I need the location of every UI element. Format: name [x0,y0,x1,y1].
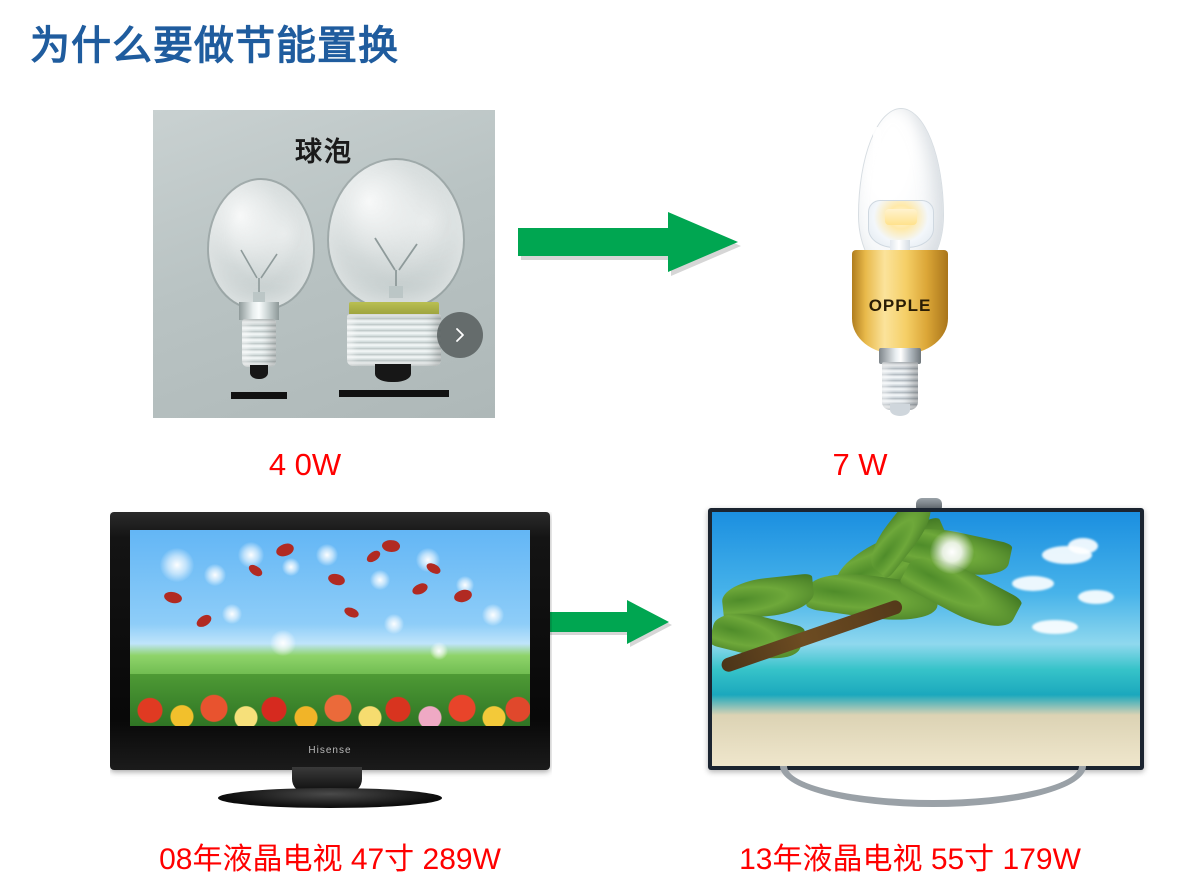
screen-sparkle [482,604,504,626]
new-lcd-tv-photo [700,498,1152,810]
screen-cloud [1012,576,1054,591]
bulb-contact-tip-large [375,364,411,382]
led-screw-base [882,362,918,410]
bulb-screw-base-small [242,319,276,367]
opple-brand-label: OPPLE [852,296,948,316]
old-lcd-tv-photo: Hisense [110,512,552,812]
screen-petal [411,582,429,596]
screen-petal [343,605,360,620]
bulb-filament-small [231,248,287,310]
scale-bar-large [339,390,449,397]
screen-petal [453,589,472,603]
new-tv-stand [780,766,1086,807]
screen-sparkle [222,604,242,624]
screen-cloud [1078,590,1114,604]
led-contact-tip [890,404,910,416]
hisense-brand-label: Hisense [110,745,550,756]
led-gold-housing: OPPLE [852,250,948,354]
screen-sparkle [370,570,390,590]
screen-sparkle [270,630,296,656]
old-tv-stand-base [218,788,442,808]
old-tv-flower-field [130,674,530,726]
screen-sparkle [384,614,404,634]
old-bulb-wattage-label: 4 0W [205,447,405,483]
screen-petal [163,589,184,605]
new-tv-spec-label: 13年液晶电视 55寸 179W [640,834,1180,878]
led-candle-bulb-photo: OPPLE [820,104,980,420]
screen-cloud [1032,620,1078,634]
screen-petal [275,542,295,557]
old-tv-spec-label: 08年液晶电视 47寸 289W [80,834,580,878]
sun-flare [930,530,974,574]
old-tv-bezel: Hisense [110,512,550,770]
bulb-filament-large [363,236,429,306]
right-arrow-icon-tvs [535,600,675,656]
page-title: 为什么要做节能置换 [30,22,399,70]
bulb-screw-base-large [347,314,441,366]
incandescent-bulb-photo: 球泡 [153,110,495,418]
chevron-right-icon [451,326,469,344]
old-tv-screen [130,530,530,726]
bulb-contact-tip-small [250,365,268,379]
new-tv-screen [712,512,1140,766]
bulb-neck-small [239,302,279,320]
screen-sparkle [282,558,300,576]
screen-cloud [1068,538,1098,554]
scale-bar-small [231,392,287,399]
incandescent-bulb-small [201,160,317,400]
new-tv-bezel [708,508,1144,770]
screen-petal [195,613,214,629]
screen-petal [365,549,382,564]
screen-sparkle [430,642,448,660]
new-bulb-wattage-label: 7 W [760,447,960,483]
screen-petal [327,571,347,588]
photo-next-button[interactable] [437,312,483,358]
screen-sparkle [204,564,226,586]
screen-petal [247,562,264,579]
right-arrow-icon-bulbs [518,212,744,296]
screen-sparkle [316,544,338,566]
incandescent-bulb-large [323,152,465,400]
screen-sparkle [160,548,194,582]
screen-petal [381,539,401,554]
